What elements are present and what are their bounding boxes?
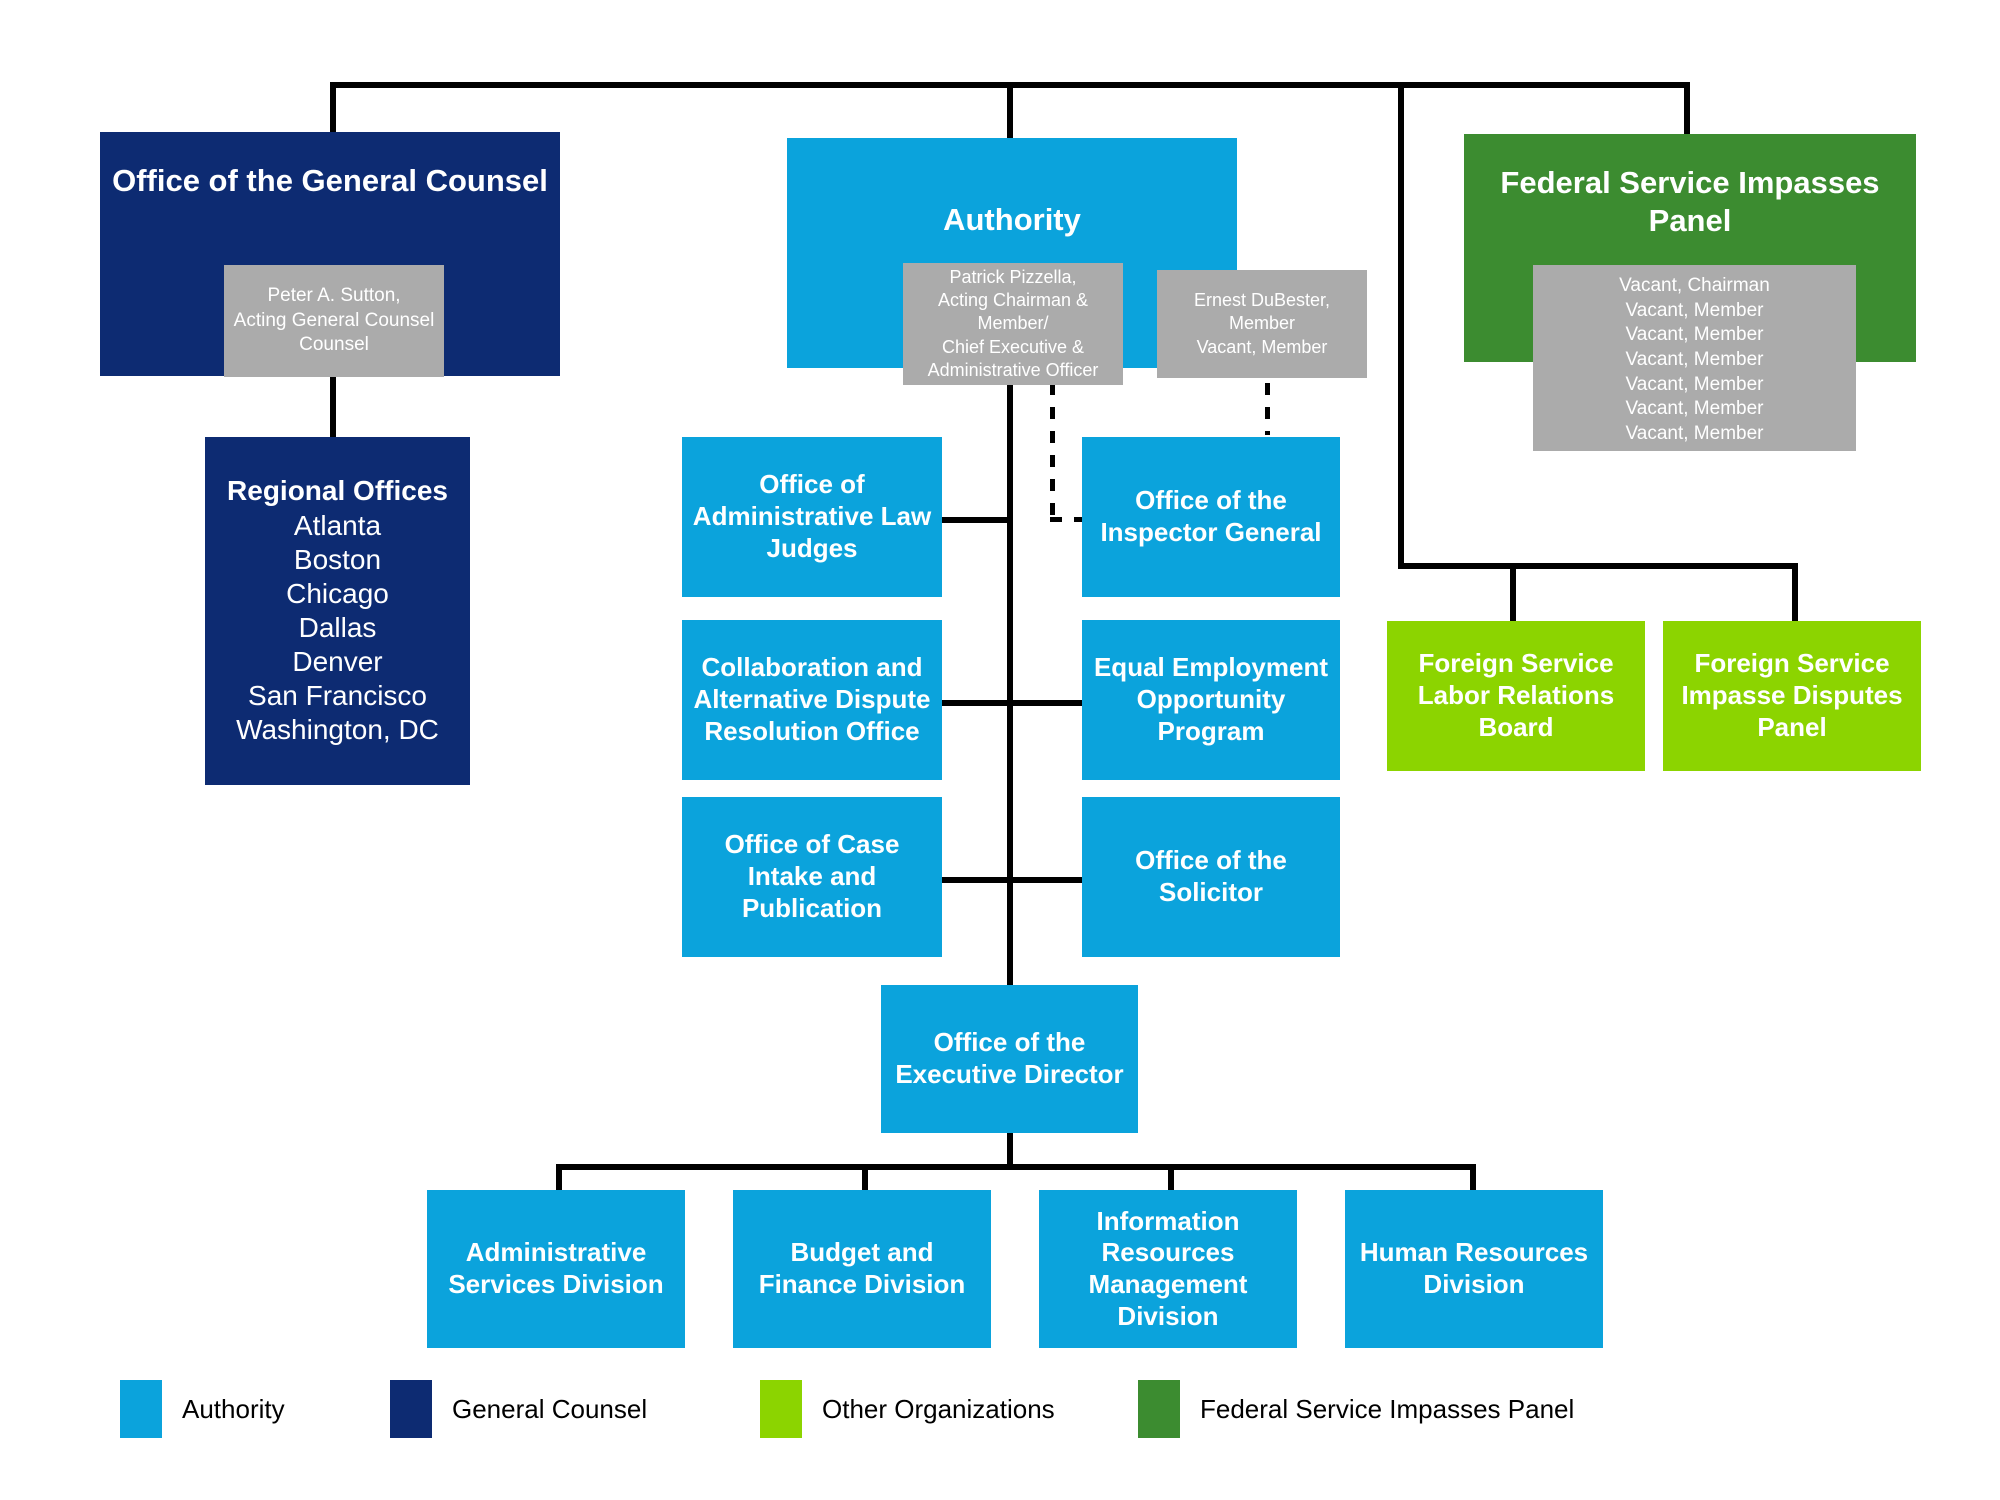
node-office-of-the-solicitor[interactable]: Office of the Solicitor (1082, 797, 1340, 957)
regional-office-item: San Francisco (248, 680, 427, 711)
nameplate-line: Vacant, Member (1626, 324, 1764, 345)
node-label-exec-director: Office of the Executive Director (881, 1027, 1138, 1090)
connector-to-admin-services (556, 1164, 562, 1192)
node-human-resources-division[interactable]: Human Resources Division (1345, 1190, 1603, 1348)
node-label-fsip: Federal Service Impasses Panel (1464, 134, 1916, 240)
nameplate-general-counsel-lines: Peter A. Sutton, Acting General Counsel … (224, 284, 444, 358)
regional-office-item: Denver (292, 646, 382, 677)
connector-foreign-service-bar (1398, 563, 1798, 569)
nameplate-line: Vacant, Member (1626, 398, 1764, 419)
legend-swatch-other-organizations (760, 1380, 802, 1438)
legend-label-other-organizations: Other Organizations (822, 1394, 1055, 1425)
nameplate-fsip-members: Vacant, Chairman Vacant, Member Vacant, … (1533, 265, 1856, 451)
legend-item-fsip: Federal Service Impasses Panel (1138, 1378, 1574, 1440)
node-information-resources-management-division[interactable]: Information Resources Management Divisio… (1039, 1190, 1297, 1348)
regional-offices-stack: Regional Offices Atlanta Boston Chicago … (205, 474, 470, 747)
connector-row3-right (1007, 877, 1082, 883)
connector-row3-left (940, 877, 1010, 883)
org-chart-canvas: Office of the General Counsel Peter A. S… (0, 0, 2000, 1500)
nameplate-members-lines: Ernest DuBester, Member Vacant, Member (1157, 289, 1367, 359)
node-office-of-case-intake-and-publication[interactable]: Office of Case Intake and Publication (682, 797, 942, 957)
node-office-of-the-inspector-general[interactable]: Office of the Inspector General (1082, 437, 1340, 597)
nameplate-line: Vacant, Member (1626, 374, 1764, 395)
connector-to-fsip (1684, 82, 1690, 134)
legend-item-authority: Authority (120, 1378, 285, 1440)
node-administrative-services-division[interactable]: Administrative Services Division (427, 1190, 685, 1348)
legend-item-general-counsel: General Counsel (390, 1378, 647, 1440)
node-label-cadro: Collaboration and Alternative Dispute Re… (682, 652, 942, 747)
node-label-general-counsel: Office of the General Counsel (100, 132, 560, 200)
regional-office-item: Boston (294, 544, 381, 575)
dashed-connector-chair-to-ig-vertical (1050, 383, 1055, 520)
legend-swatch-authority (120, 1380, 162, 1438)
legend-label-general-counsel: General Counsel (452, 1394, 647, 1425)
node-label-irm: Information Resources Management Divisio… (1039, 1206, 1297, 1333)
nameplate-authority-chairman: Patrick Pizzella, Acting Chairman & Memb… (903, 263, 1123, 385)
regional-office-item: Dallas (299, 612, 377, 643)
node-label-oalj: Office of Administrative Law Judges (682, 469, 942, 564)
connector-to-fslrb (1510, 563, 1516, 621)
legend-label-fsip: Federal Service Impasses Panel (1200, 1394, 1574, 1425)
legend-label-authority: Authority (182, 1394, 285, 1425)
regional-offices-heading: Regional Offices (227, 475, 448, 506)
regional-office-item: Atlanta (294, 510, 381, 541)
nameplate-general-counsel: Peter A. Sutton, Acting General Counsel … (224, 265, 444, 377)
nameplate-line: Vacant, Member (1626, 349, 1764, 370)
node-label-eeo: Equal Employment Opportunity Program (1082, 652, 1340, 747)
connector-divisions-bar (556, 1164, 1476, 1170)
node-regional-offices[interactable]: Regional Offices Atlanta Boston Chicago … (205, 437, 470, 785)
nameplate-line: Acting Chairman & (938, 290, 1088, 310)
regional-office-item: Chicago (286, 578, 389, 609)
nameplate-line: Vacant, Member (1626, 423, 1764, 444)
nameplate-line: Member/ (977, 313, 1048, 333)
nameplate-line: Member (1229, 313, 1295, 333)
nameplate-line: Vacant, Chairman (1619, 275, 1770, 296)
legend-swatch-fsip (1138, 1380, 1180, 1438)
nameplate-line: Acting General Counsel (234, 310, 435, 331)
connector-row2-left (940, 700, 1010, 706)
node-foreign-service-labor-relations-board[interactable]: Foreign Service Labor Relations Board (1387, 621, 1645, 771)
legend-item-other-organizations: Other Organizations (760, 1378, 1055, 1440)
connector-row1-left (940, 517, 1010, 523)
node-collaboration-adr-office[interactable]: Collaboration and Alternative Dispute Re… (682, 620, 942, 780)
nameplate-authority-members: Ernest DuBester, Member Vacant, Member (1157, 270, 1367, 378)
nameplate-fsip-lines: Vacant, Chairman Vacant, Member Vacant, … (1533, 265, 1856, 447)
nameplate-chairman-lines: Patrick Pizzella, Acting Chairman & Memb… (903, 266, 1123, 383)
connector-to-general-counsel (330, 82, 336, 132)
node-label-hr: Human Resources Division (1345, 1237, 1603, 1300)
node-budget-and-finance-division[interactable]: Budget and Finance Division (733, 1190, 991, 1348)
connector-to-irm (1168, 1164, 1174, 1192)
nameplate-line: Counsel (299, 334, 369, 355)
connector-authority-spine (1007, 383, 1013, 988)
node-label-budget-finance: Budget and Finance Division (733, 1237, 991, 1300)
nameplate-line: Chief Executive & (942, 337, 1084, 357)
connector-row2-right (1007, 700, 1082, 706)
node-office-of-administrative-law-judges[interactable]: Office of Administrative Law Judges (682, 437, 942, 597)
nameplate-line: Peter A. Sutton, (267, 285, 400, 306)
node-equal-employment-opportunity-program[interactable]: Equal Employment Opportunity Program (1082, 620, 1340, 780)
connector-to-hr (1470, 1164, 1476, 1192)
nameplate-line: Patrick Pizzella, (949, 267, 1076, 287)
nameplate-line: Vacant, Member (1626, 300, 1764, 321)
nameplate-line: Vacant, Member (1197, 337, 1328, 357)
dashed-connector-members-to-ig (1265, 383, 1270, 435)
connector-to-authority (1007, 82, 1013, 138)
connector-to-foreign-service (1398, 82, 1404, 567)
node-label-fsidp: Foreign Service Impasse Disputes Panel (1663, 648, 1921, 743)
legend-swatch-general-counsel (390, 1380, 432, 1438)
node-foreign-service-impasse-disputes-panel[interactable]: Foreign Service Impasse Disputes Panel (1663, 621, 1921, 771)
connector-gc-to-regional (330, 375, 336, 437)
regional-office-item: Washington, DC (236, 714, 439, 745)
connector-to-fsidp (1792, 563, 1798, 621)
connector-to-budget-finance (862, 1164, 868, 1192)
nameplate-line: Administrative Officer (928, 360, 1099, 380)
legend: Authority General Counsel Other Organiza… (0, 1378, 2000, 1448)
nameplate-line: Ernest DuBester, (1194, 290, 1330, 310)
node-label-admin-services: Administrative Services Division (427, 1237, 685, 1300)
node-office-of-the-executive-director[interactable]: Office of the Executive Director (881, 985, 1138, 1133)
node-label-oig: Office of the Inspector General (1082, 485, 1340, 548)
node-label-ocip: Office of Case Intake and Publication (682, 829, 942, 924)
node-label-solicitor: Office of the Solicitor (1082, 845, 1340, 908)
node-label-fslrb: Foreign Service Labor Relations Board (1387, 648, 1645, 743)
